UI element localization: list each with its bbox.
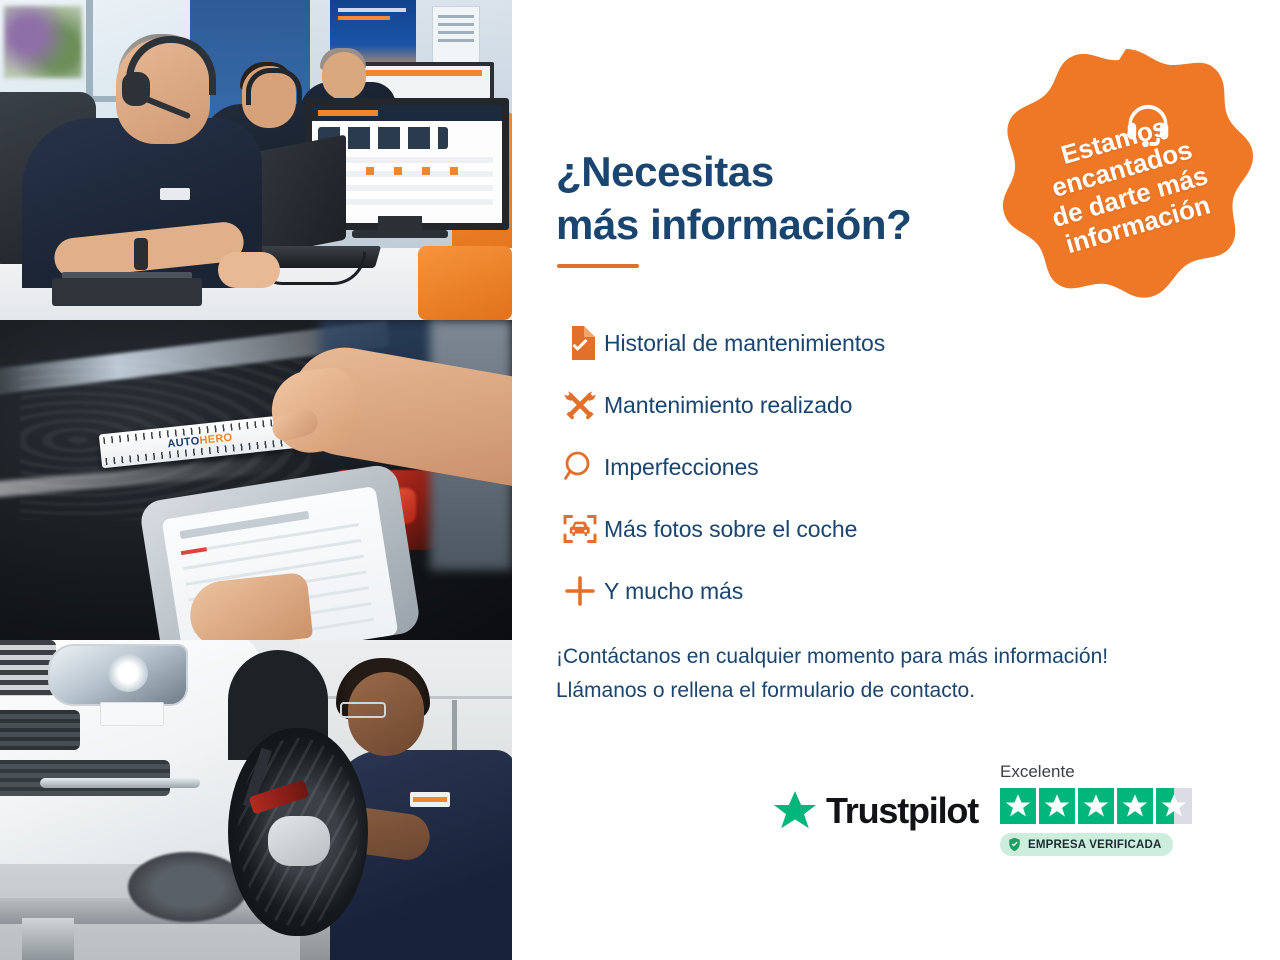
feature-label: Más fotos sobre el coche <box>604 516 857 543</box>
content-panel: ¿Necesitas más información? Estamos enca… <box>512 0 1280 960</box>
desk-folder <box>52 278 202 306</box>
rating-label: Excelente <box>1000 762 1200 782</box>
mechanic-glove <box>268 816 330 866</box>
page-title: ¿Necesitas más información? <box>556 146 986 251</box>
call-center-agents-photo <box>0 0 512 320</box>
feature-item-more-photos: Más fotos sobre el coche <box>556 498 1026 560</box>
verified-company-badge: EMPRESA VERIFICADA <box>1000 833 1173 856</box>
agent-two-headset <box>246 68 302 105</box>
feature-label: Y mucho más <box>604 578 743 605</box>
agent-one-logo-badge <box>160 188 190 200</box>
star-filled <box>1000 788 1036 824</box>
outdoor-greenery <box>4 6 82 78</box>
agent-three-head <box>322 52 366 100</box>
trustpilot-logo[interactable]: Trustpilot <box>772 788 978 834</box>
chrome-trim <box>40 778 200 788</box>
workshop-wheel-photo <box>0 640 512 960</box>
feature-item-maintenance-done: Mantenimiento realizado <box>556 374 1026 436</box>
support-badge: Estamos encantados de darte más informac… <box>995 43 1257 305</box>
feature-label: Historial de mantenimientos <box>604 330 885 357</box>
star-filled <box>1039 788 1075 824</box>
lift-post <box>22 918 74 960</box>
document-check-icon <box>556 326 604 360</box>
feature-list: Historial de mantenimientos M <box>556 312 1026 622</box>
page-title-line-2: más información? <box>556 199 986 252</box>
star-rating <box>1000 788 1200 824</box>
magnifier-icon <box>556 450 604 484</box>
star-filled <box>1117 788 1153 824</box>
poster-accent-line <box>338 16 390 20</box>
mechanic-logo-badge <box>410 792 450 807</box>
contact-line-1: ¡Contáctanos en cualquier momento para m… <box>556 640 1236 674</box>
shield-check-icon <box>1007 837 1022 852</box>
bumper-vent <box>0 710 80 750</box>
tools-wrench-screwdriver-icon <box>556 387 604 423</box>
trustpilot-star-icon <box>772 788 818 834</box>
car-photo-frame-icon <box>556 512 604 546</box>
contact-copy: ¡Contáctanos en cualquier momento para m… <box>556 640 1236 708</box>
trustpilot-wordmark: Trustpilot <box>826 790 978 832</box>
trustpilot-rating: Excelente EMPRESA VERIFICADA <box>1000 762 1200 857</box>
trustpilot-widget: Trustpilot Excelente EMPRESA VERIFICAD <box>772 762 1202 882</box>
agent-one-hand <box>218 252 280 288</box>
car-headlight <box>48 644 188 706</box>
star-half <box>1156 788 1192 824</box>
mechanic-glasses <box>340 702 386 718</box>
dent-inspection-photo: AUTOHERO <box>0 320 512 640</box>
monitor-base <box>352 230 448 238</box>
poster-text-line <box>338 8 406 12</box>
photo-column: AUTOHERO <box>0 0 512 960</box>
feature-label: Mantenimiento realizado <box>604 392 852 419</box>
title-divider <box>557 264 639 268</box>
contact-line-2: Llámanos o rellena el formulario de cont… <box>556 674 1236 708</box>
star-filled <box>1078 788 1114 824</box>
plus-icon <box>556 574 604 608</box>
page-title-line-1: ¿Necesitas <box>556 148 774 195</box>
wall-notice <box>432 6 480 70</box>
feature-item-much-more: Y mucho más <box>556 560 1026 622</box>
verified-company-label: EMPRESA VERIFICADA <box>1028 839 1162 851</box>
feature-label: Imperfecciones <box>604 454 759 481</box>
orange-chair-foreground <box>418 246 512 320</box>
wristwatch <box>134 238 148 270</box>
feature-item-maintenance-history: Historial de mantenimientos <box>556 312 1026 374</box>
license-plate-area <box>100 702 164 726</box>
feature-item-imperfections: Imperfecciones <box>556 436 1026 498</box>
promo-panel: AUTOHERO <box>0 0 1280 960</box>
